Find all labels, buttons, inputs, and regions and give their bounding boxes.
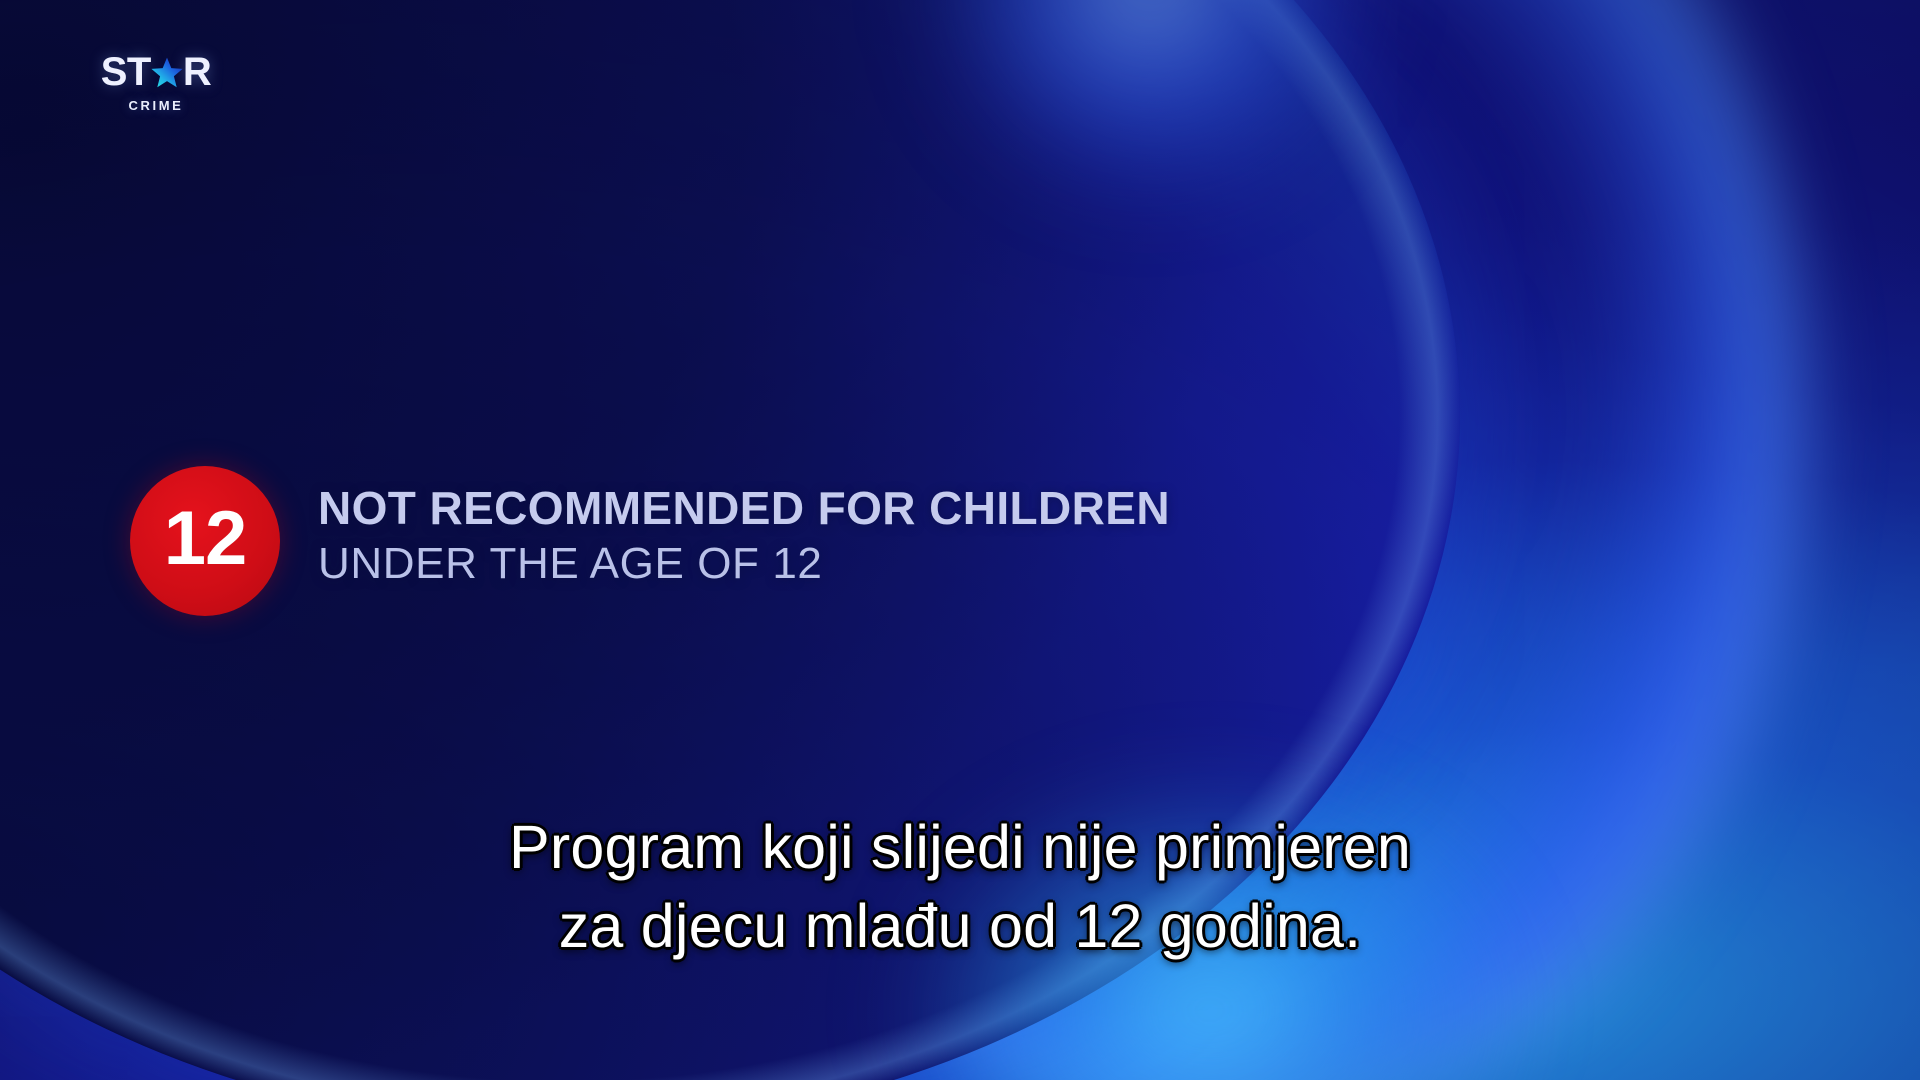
- age-rating-badge: 12: [130, 466, 280, 616]
- channel-logo: ST R CRIME: [86, 52, 226, 113]
- age-rating-subline: UNDER THE AGE OF 12: [318, 541, 1170, 588]
- age-rating-headline: NOT RECOMMENDED FOR CHILDREN: [318, 484, 1170, 533]
- star-icon: [150, 56, 184, 90]
- broadcast-age-rating-bumper: ST R CRIME 12: [0, 0, 1920, 1080]
- age-rating-number: 12: [164, 501, 247, 577]
- channel-logo-text-suffix: R: [183, 52, 211, 92]
- age-rating-text: NOT RECOMMENDED FOR CHILDREN UNDER THE A…: [318, 466, 1170, 587]
- age-rating-block: 12 NOT RECOMMENDED FOR CHILDREN UNDER TH…: [130, 466, 1170, 616]
- channel-logo-wordmark: ST R: [86, 52, 226, 92]
- channel-logo-subtitle: CRIME: [86, 98, 226, 113]
- channel-logo-text-prefix: ST: [101, 52, 151, 92]
